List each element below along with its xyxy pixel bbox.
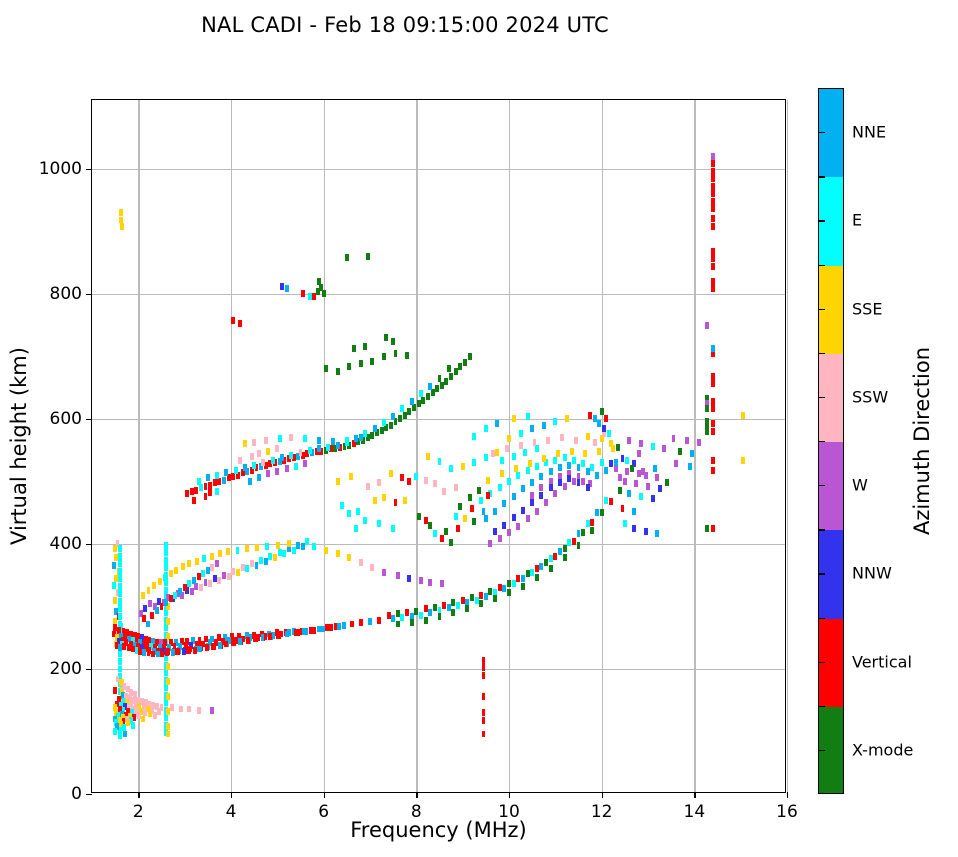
echo-point	[433, 530, 437, 537]
echo-point	[210, 564, 214, 571]
echo-point	[373, 425, 377, 432]
echo-point	[419, 612, 423, 619]
echo-point	[505, 445, 509, 452]
echo-point	[182, 648, 186, 655]
echo-point	[321, 626, 325, 633]
echo-point	[382, 353, 386, 360]
echo-point	[142, 649, 146, 656]
plot-area: 24681012141602004006008001000	[91, 99, 786, 793]
echo-point	[187, 647, 191, 654]
echo-point	[644, 528, 648, 535]
echo-point	[433, 480, 437, 487]
echo-point	[169, 595, 173, 602]
echo-point	[166, 678, 170, 685]
echo-point	[164, 549, 168, 556]
echo-point	[711, 428, 715, 435]
echo-point	[373, 497, 377, 504]
echo-point	[403, 497, 407, 504]
echo-point	[282, 550, 286, 557]
echo-point	[454, 513, 458, 520]
echo-point	[324, 547, 328, 554]
echo-point	[131, 722, 135, 729]
echo-point	[266, 470, 270, 477]
echo-point	[217, 577, 221, 584]
echo-point	[396, 621, 400, 628]
echo-point	[276, 542, 280, 549]
echo-point	[199, 484, 203, 491]
echo-point	[674, 460, 678, 467]
echo-point	[165, 649, 169, 656]
echo-point	[231, 473, 235, 480]
echo-point	[255, 562, 259, 569]
x-axis-tick	[138, 792, 139, 798]
echo-point	[208, 482, 212, 489]
echo-point	[428, 609, 432, 616]
echo-point	[275, 445, 279, 452]
echo-point	[741, 412, 745, 419]
y-axis-tick-label: 800	[50, 284, 82, 304]
echo-point	[577, 542, 581, 549]
echo-point	[711, 205, 715, 212]
echo-point	[567, 462, 571, 469]
echo-point	[567, 539, 571, 546]
echo-point	[163, 574, 167, 581]
echo-point	[147, 649, 151, 656]
echo-point	[370, 564, 374, 571]
y-axis-tick	[86, 544, 92, 545]
echo-point	[257, 450, 261, 457]
colorbar-tick	[818, 309, 825, 310]
echo-point	[118, 583, 122, 590]
y-axis-tick-label: 400	[50, 534, 82, 554]
echo-point	[600, 509, 604, 516]
echo-point	[213, 479, 217, 486]
echo-point	[398, 415, 402, 422]
echo-point	[419, 577, 423, 584]
echo-point	[421, 397, 425, 404]
echo-point	[563, 545, 567, 552]
echo-point	[479, 600, 483, 607]
echo-point	[424, 605, 428, 612]
echo-point	[331, 438, 335, 445]
echo-point	[356, 508, 360, 515]
echo-point	[618, 487, 622, 494]
echo-point	[458, 503, 462, 510]
echo-point	[252, 462, 256, 469]
echo-point	[516, 523, 520, 530]
echo-point	[377, 520, 381, 527]
echo-point	[546, 437, 550, 444]
echo-point	[549, 484, 553, 491]
echo-point	[521, 507, 525, 514]
colorbar-boundary-tick	[818, 441, 825, 442]
echo-point	[535, 445, 539, 452]
echo-point	[600, 459, 604, 466]
echo-point	[396, 610, 400, 617]
echo-point	[143, 605, 147, 612]
echo-point	[166, 723, 170, 730]
echo-point	[586, 520, 590, 527]
colorbar-title: Azimuth Direction	[905, 88, 939, 794]
echo-point	[595, 472, 599, 479]
echo-point	[204, 579, 208, 586]
echo-point	[246, 637, 250, 644]
echo-point	[516, 472, 520, 479]
echo-point	[296, 542, 300, 549]
echo-point	[711, 525, 715, 532]
echo-point	[407, 408, 411, 415]
echo-point	[519, 442, 523, 449]
echo-point	[484, 593, 488, 600]
echo-point	[387, 612, 391, 619]
echo-point	[410, 398, 414, 405]
echo-point	[370, 432, 374, 439]
echo-point	[484, 454, 488, 461]
echo-point	[248, 478, 252, 485]
echo-point	[303, 460, 307, 467]
echo-point	[382, 569, 386, 576]
echo-point	[470, 594, 474, 601]
echo-point	[438, 613, 442, 620]
echo-point	[444, 378, 448, 385]
echo-point	[192, 577, 196, 584]
echo-point	[156, 651, 160, 658]
echo-point	[553, 490, 557, 497]
echo-point	[484, 515, 488, 522]
echo-point	[486, 492, 490, 499]
echo-point	[586, 484, 590, 491]
echo-point	[482, 717, 486, 724]
echo-point	[498, 584, 502, 591]
echo-point	[366, 483, 370, 490]
echo-point	[621, 505, 625, 512]
echo-point	[477, 487, 481, 494]
echo-point	[549, 555, 553, 562]
echo-point	[118, 575, 122, 582]
echo-point	[586, 433, 590, 440]
echo-point	[632, 508, 636, 515]
echo-point	[502, 585, 506, 592]
echo-point	[711, 168, 715, 175]
echo-point	[595, 509, 599, 516]
echo-point	[604, 467, 608, 474]
echo-point	[588, 412, 592, 419]
echo-point	[482, 731, 486, 738]
echo-point	[482, 657, 486, 664]
echo-point	[173, 592, 177, 599]
echo-point	[164, 587, 168, 594]
echo-point	[317, 437, 321, 444]
echo-point	[166, 693, 170, 700]
echo-point	[424, 477, 428, 484]
echo-point	[558, 479, 562, 486]
echo-point	[472, 518, 476, 525]
colorbar-label-nnw: NNW	[852, 564, 892, 583]
colorbar-boundary-tick	[818, 618, 825, 619]
echo-point	[150, 612, 154, 619]
echo-point	[614, 465, 618, 472]
echo-point	[301, 543, 305, 550]
echo-point	[400, 614, 404, 621]
echo-point	[215, 560, 219, 567]
echo-point	[600, 408, 604, 415]
echo-point	[118, 590, 122, 597]
echo-point	[255, 544, 259, 551]
echo-point	[213, 575, 217, 582]
echo-point	[205, 644, 209, 651]
echo-point	[257, 474, 261, 481]
echo-point	[672, 435, 676, 442]
colorbar-tick	[818, 750, 825, 751]
echo-point	[593, 415, 597, 422]
echo-point	[241, 564, 245, 571]
echo-point	[597, 448, 601, 455]
echo-point	[201, 570, 205, 577]
echo-point	[312, 543, 316, 550]
echo-point	[607, 430, 611, 437]
echo-point	[193, 647, 197, 654]
echo-point	[366, 253, 370, 260]
echo-point	[491, 450, 495, 457]
echo-point	[382, 419, 386, 426]
echo-point	[502, 522, 506, 529]
echo-point	[238, 457, 242, 464]
echo-point	[451, 599, 455, 606]
y-axis-tick	[86, 169, 92, 170]
echo-point	[498, 484, 502, 491]
echo-point	[337, 623, 341, 630]
echo-point	[553, 418, 557, 425]
echo-point	[276, 632, 280, 639]
echo-point	[289, 452, 293, 459]
echo-point	[549, 468, 553, 475]
echo-point	[253, 636, 257, 643]
echo-point	[632, 525, 636, 532]
echo-point	[198, 646, 202, 653]
y-axis-tick	[86, 294, 92, 295]
echo-point	[308, 293, 312, 300]
echo-point	[164, 609, 168, 616]
echo-point	[486, 477, 490, 484]
echo-point	[264, 558, 268, 565]
echo-point	[530, 479, 534, 486]
echo-point	[539, 484, 543, 491]
echo-point	[655, 530, 659, 537]
echo-point	[625, 468, 629, 475]
echo-point	[530, 492, 534, 499]
echo-point	[479, 592, 483, 599]
echo-point	[170, 704, 174, 711]
echo-point	[711, 248, 715, 255]
echo-point	[574, 437, 578, 444]
echo-point	[126, 719, 130, 726]
echo-point	[317, 445, 321, 452]
echo-point	[482, 709, 486, 716]
echo-point	[391, 615, 395, 622]
echo-point	[370, 358, 374, 365]
echo-point	[210, 707, 214, 714]
echo-point	[238, 638, 242, 645]
echo-point	[266, 448, 270, 455]
echo-point	[122, 643, 126, 650]
echo-point	[160, 603, 164, 610]
echo-point	[417, 513, 421, 520]
echo-point	[637, 450, 641, 457]
echo-point	[350, 621, 354, 628]
echo-point	[428, 522, 432, 529]
echo-point	[493, 508, 497, 515]
echo-point	[461, 463, 465, 470]
echo-point	[303, 435, 307, 442]
echo-point	[329, 624, 333, 631]
echo-point	[651, 443, 655, 450]
echo-point	[456, 525, 460, 532]
echo-point	[521, 583, 525, 590]
echo-point	[454, 484, 458, 491]
echo-point	[414, 473, 418, 480]
echo-point	[526, 467, 530, 474]
echo-point	[442, 602, 446, 609]
colorbar-boundary-tick	[818, 706, 825, 707]
echo-point	[630, 465, 634, 472]
echo-point	[118, 553, 122, 560]
echo-point	[711, 160, 715, 167]
echo-point	[391, 338, 395, 345]
echo-point	[465, 605, 469, 612]
echo-point	[711, 255, 715, 262]
echo-point	[384, 334, 388, 341]
echo-point	[597, 420, 601, 427]
echo-point	[526, 570, 530, 577]
echo-point	[449, 465, 453, 472]
echo-point	[187, 706, 191, 713]
echo-point	[407, 478, 411, 485]
echo-point	[336, 550, 340, 557]
echo-point	[352, 345, 356, 352]
echo-point	[458, 363, 462, 370]
echo-point	[563, 483, 567, 490]
echo-point	[148, 711, 152, 718]
echo-point	[572, 457, 576, 464]
echo-point	[157, 708, 161, 715]
echo-point	[711, 183, 715, 190]
echo-point	[549, 565, 553, 572]
x-axis-tick	[694, 792, 695, 798]
echo-point	[312, 293, 316, 300]
echo-point	[570, 448, 574, 455]
echo-point	[567, 475, 571, 482]
echo-point	[287, 540, 291, 547]
echo-point	[259, 557, 263, 564]
echo-point	[166, 618, 170, 625]
echo-point	[113, 728, 117, 735]
echo-point	[324, 365, 328, 372]
echo-point	[222, 572, 226, 579]
echo-point	[539, 492, 543, 499]
echo-point	[653, 465, 657, 472]
echo-point	[368, 618, 372, 625]
echo-point	[218, 642, 222, 649]
echo-point	[271, 457, 275, 464]
echo-point	[507, 589, 511, 596]
echo-point	[581, 529, 585, 536]
echo-point	[449, 373, 453, 380]
echo-point	[530, 425, 534, 432]
echo-point	[264, 437, 268, 444]
colorbar-label-e: E	[852, 211, 862, 230]
colorbar-tick	[818, 220, 825, 221]
echo-point	[265, 543, 269, 550]
echo-point	[711, 345, 715, 352]
echo-point	[347, 363, 351, 370]
echo-point	[705, 405, 709, 412]
echo-point	[521, 485, 525, 492]
echo-point	[495, 449, 499, 456]
echo-point	[424, 517, 428, 524]
echo-point	[512, 580, 516, 587]
echo-point	[414, 608, 418, 615]
echo-point	[345, 254, 349, 261]
echo-point	[563, 454, 567, 461]
echo-point	[581, 478, 585, 485]
echo-point	[394, 350, 398, 357]
echo-point	[586, 468, 590, 475]
echo-point	[152, 582, 156, 589]
echo-point	[604, 497, 608, 504]
echo-point	[394, 499, 398, 506]
ionogram-figure: NAL CADI - Feb 18 09:15:00 2024 UTC Virt…	[0, 0, 958, 857]
echo-point	[438, 458, 442, 465]
echo-point	[678, 448, 682, 455]
echo-point	[285, 465, 289, 472]
echo-point	[705, 322, 709, 329]
echo-point	[639, 440, 643, 447]
echo-point	[146, 621, 150, 628]
echo-point	[359, 360, 363, 367]
echo-point	[342, 622, 346, 629]
echo-point	[539, 563, 543, 570]
echo-point	[166, 663, 170, 670]
echo-point	[634, 480, 638, 487]
echo-point	[526, 413, 530, 420]
echo-point	[197, 478, 201, 485]
x-axis-tick	[416, 792, 417, 798]
echo-point	[639, 493, 643, 500]
echo-point	[113, 597, 117, 604]
echo-point	[539, 473, 543, 480]
echo-point	[542, 422, 546, 429]
echo-point	[273, 554, 277, 561]
echo-point	[468, 353, 472, 360]
echo-point	[349, 473, 353, 480]
echo-point	[289, 434, 293, 441]
echo-point	[336, 368, 340, 375]
echo-point	[204, 493, 208, 500]
echo-point	[311, 627, 315, 634]
echo-point	[711, 380, 715, 387]
echo-point	[347, 554, 351, 561]
echo-point	[482, 672, 486, 679]
echo-point	[178, 588, 182, 595]
echo-point	[185, 490, 189, 497]
echo-point	[403, 412, 407, 419]
echo-point	[419, 390, 423, 397]
echo-point	[410, 619, 414, 626]
echo-point	[250, 560, 254, 567]
colorbar-tick	[818, 573, 825, 574]
echo-point	[231, 568, 235, 575]
echo-point	[292, 547, 296, 554]
